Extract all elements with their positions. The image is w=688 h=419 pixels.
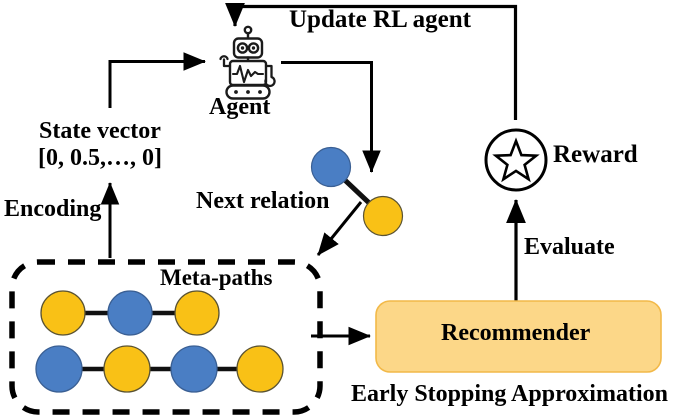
star-in-circle-icon bbox=[486, 130, 546, 190]
label-next-relation: Next relation bbox=[196, 188, 330, 215]
meta-node-blue bbox=[108, 291, 152, 335]
label-recommender: Recommender bbox=[441, 320, 590, 347]
meta-node-yellow bbox=[175, 291, 219, 335]
meta-node-blue bbox=[36, 346, 82, 392]
label-early-stopping-approximation: Early Stopping Approximation bbox=[351, 381, 668, 408]
meta-node-yellow bbox=[104, 346, 150, 392]
robot-icon bbox=[221, 27, 275, 99]
meta-path-row-1 bbox=[41, 291, 219, 335]
state-vector-line-2: [0, 0.5,…, 0] bbox=[38, 145, 162, 172]
next-relation-node-yellow bbox=[364, 197, 403, 236]
label-update-rl-agent: Update RL agent bbox=[289, 6, 471, 34]
label-encoding: Encoding bbox=[4, 196, 101, 223]
meta-node-yellow bbox=[237, 346, 283, 392]
label-state-vector: State vector [0, 0.5,…, 0] bbox=[38, 118, 162, 172]
edge-state-to-agent bbox=[110, 62, 205, 109]
meta-node-blue bbox=[171, 346, 217, 392]
label-agent: Agent bbox=[209, 94, 270, 121]
next-relation-node-blue bbox=[312, 148, 351, 187]
label-meta-paths: Meta-paths bbox=[160, 265, 272, 291]
state-vector-line-1: State vector bbox=[39, 118, 161, 144]
label-evaluate: Evaluate bbox=[524, 234, 615, 261]
meta-node-yellow bbox=[41, 291, 85, 335]
diagram-canvas: Update RL agent Agent State vector [0, 0… bbox=[0, 0, 688, 419]
label-reward: Reward bbox=[553, 141, 638, 169]
meta-path-row-2 bbox=[36, 346, 283, 392]
diagram-vector-layer bbox=[0, 0, 688, 419]
